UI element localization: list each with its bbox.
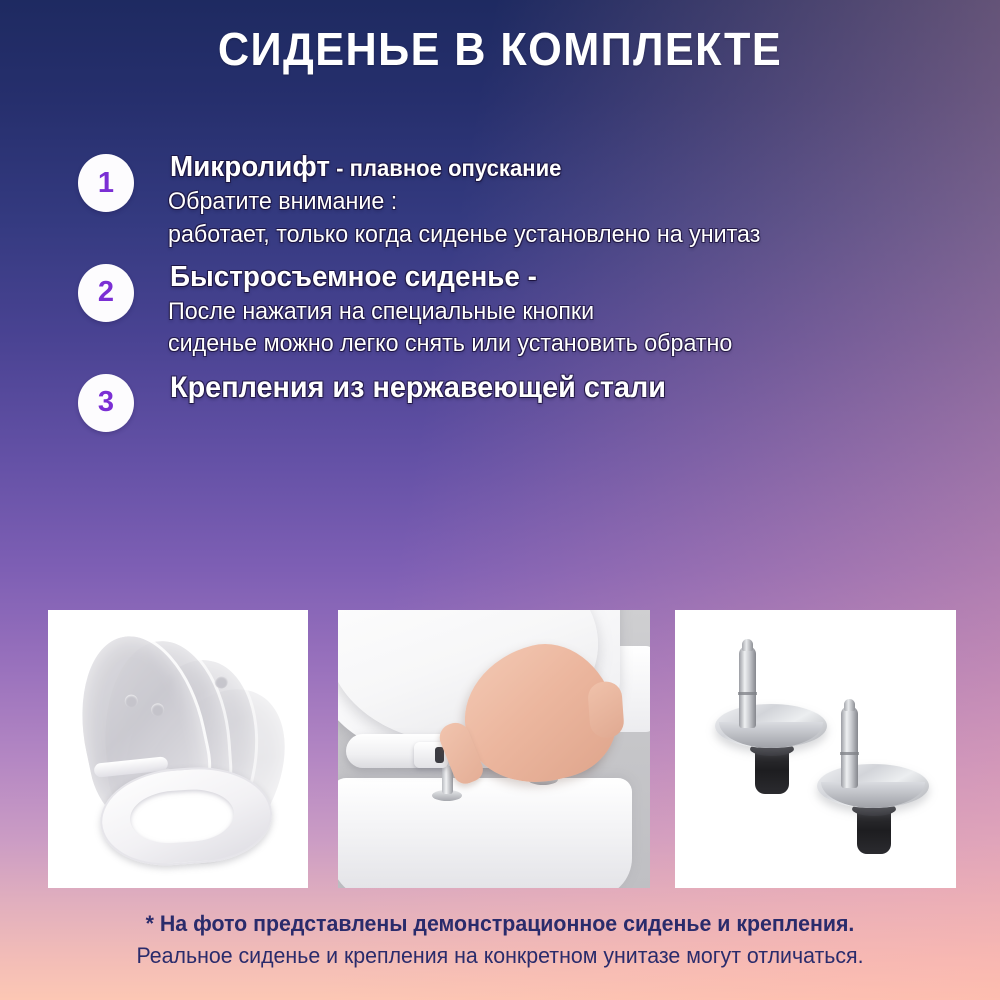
photo-strip [48, 610, 956, 888]
rubber-sleeve [857, 802, 891, 854]
chrome-collar [719, 722, 823, 748]
feature-item-1: 1 Микролифт - плавное опускание Обратите… [0, 150, 1000, 250]
soft-close-seat-photo [48, 610, 308, 888]
feature-headline-3: Крепления из нержавеющей стали [170, 370, 950, 407]
feature-headline-strong-3: Крепления из нержавеющей стали [170, 371, 666, 404]
feature-headline-2: Быстросъемное сиденье - [170, 260, 950, 295]
feature-line-2-2: сиденье можно легко снять или установить… [168, 328, 958, 359]
feature-line-1-2: работает, только когда сиденье установле… [168, 219, 958, 250]
chrome-collar [821, 782, 925, 808]
footnote-line-2: Реальное сиденье и крепления на конкретн… [15, 941, 985, 971]
steel-stem [739, 646, 756, 728]
feature-headline-strong-1: Микролифт [170, 151, 330, 183]
feature-text-2: Быстросъемное сиденье - После нажатия на… [170, 260, 1000, 360]
feature-number-badge-3: 3 [78, 374, 134, 432]
toilet-base [338, 778, 632, 888]
infographic-page: СИДЕНЬЕ В КОМПЛЕКТЕ 1 Микролифт - плавно… [0, 0, 1000, 1000]
stainless-fixings-photo [675, 610, 956, 888]
stainless-fixings-illustration [675, 610, 956, 888]
soft-close-seat-illustration [48, 610, 308, 888]
feature-line-1-1: Обратите внимание : [168, 186, 958, 217]
seat-bumper-dot [124, 693, 139, 708]
feature-headline-1: Микролифт - плавное опускание [170, 150, 950, 185]
feature-headline-strong-2: Быстросъемное сиденье - [170, 261, 537, 293]
steel-stem [841, 706, 858, 788]
feature-text-1: Микролифт - плавное опускание Обратите в… [170, 150, 1000, 250]
quick-release-button-photo [338, 610, 650, 888]
hand-knuckle [587, 681, 625, 739]
feature-headline-rest-1: - плавное опускание [330, 155, 561, 181]
page-title: СИДЕНЬЕ В КОМПЛЕКТЕ [30, 22, 970, 76]
seat-bumper-dot [150, 702, 165, 717]
feature-item-3: 3 Крепления из нержавеющей стали [0, 370, 1000, 430]
feature-text-3: Крепления из нержавеющей стали [170, 370, 1000, 407]
feature-list: 1 Микролифт - плавное опускание Обратите… [0, 150, 1000, 430]
quick-release-illustration [338, 610, 650, 888]
feature-line-2-1: После нажатия на специальные кнопки [168, 296, 958, 327]
feature-number-badge-2: 2 [78, 264, 134, 322]
feature-item-2: 2 Быстросъемное сиденье - После нажатия … [0, 260, 1000, 360]
footnote: * На фото представлены демонстрационное … [0, 910, 1000, 970]
rubber-sleeve [755, 742, 789, 794]
footnote-line-1: * На фото представлены демонстрационное … [15, 910, 985, 939]
feature-number-badge-1: 1 [78, 154, 134, 212]
